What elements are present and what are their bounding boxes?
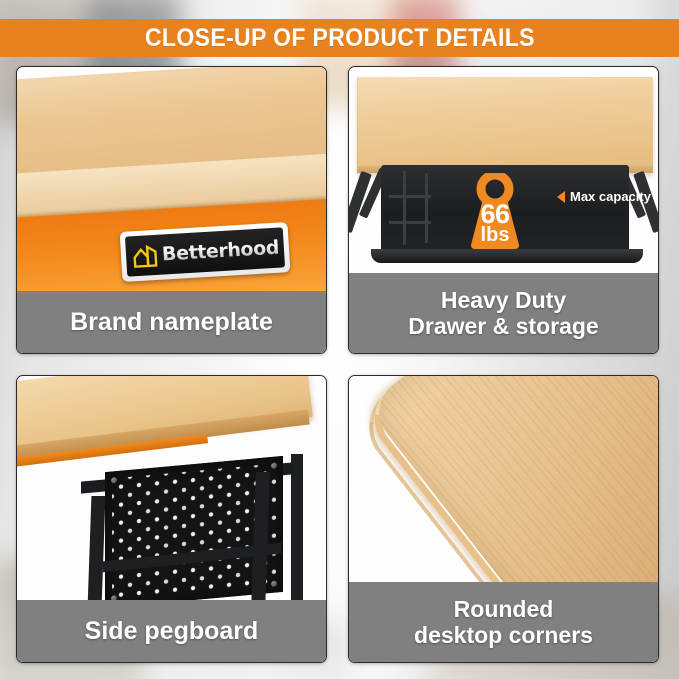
panel-4-caption-line-2: desktop corners xyxy=(414,622,593,648)
nameplate-inner: Betterhood xyxy=(125,227,285,276)
panel-rounded-corners: Rounded desktop corners xyxy=(348,375,659,663)
brand-nameplate-badge: Betterhood xyxy=(120,222,291,282)
panel-3-caption-line-1: Side pegboard xyxy=(85,617,259,646)
max-capacity-callout: Max capacity xyxy=(557,189,651,204)
drawer-divider xyxy=(425,173,428,243)
drawer-divider xyxy=(389,195,431,198)
capacity-unit: lbs xyxy=(459,225,531,245)
triangle-left-icon xyxy=(557,191,565,203)
panel-side-pegboard: Side pegboard xyxy=(16,375,327,663)
panel-2-caption-line-2: Drawer & storage xyxy=(408,313,598,339)
panel-3-caption: Side pegboard xyxy=(17,600,326,662)
brand-name-text: Betterhood xyxy=(161,237,279,266)
panel-1-caption-line-1: Brand nameplate xyxy=(70,308,273,337)
header-title: CLOSE-UP OF PRODUCT DETAILS xyxy=(145,24,535,53)
drawer-divider xyxy=(403,171,406,245)
panel-4-caption: Rounded desktop corners xyxy=(349,582,658,662)
panel-4-caption-line-1: Rounded xyxy=(454,596,554,622)
panel-1-caption: Brand nameplate xyxy=(17,291,326,353)
pegboard-screw xyxy=(271,580,277,587)
header-banner: CLOSE-UP OF PRODUCT DETAILS xyxy=(0,19,679,57)
drawer-divider xyxy=(389,221,431,224)
panel-brand-nameplate: Betterhood Brand nameplate xyxy=(16,66,327,354)
pegboard-screw xyxy=(271,462,277,469)
feature-panel-grid: Betterhood Brand nameplate xyxy=(16,66,663,663)
panel-2-caption-line-1: Heavy Duty xyxy=(441,287,566,313)
house-building-icon xyxy=(132,243,159,268)
weight-kettlebell-icon: 66 lbs xyxy=(459,173,531,251)
max-capacity-text: Max capacity xyxy=(570,189,651,204)
panel-heavy-duty-drawer: 66 lbs Max capacity Heavy Duty Drawer & … xyxy=(348,66,659,354)
max-capacity-line-1: Max xyxy=(570,189,595,204)
max-capacity-line-2: capacity xyxy=(599,189,651,204)
drawer-front-lip xyxy=(371,249,643,263)
wood-benchtop xyxy=(357,77,653,173)
panel-2-caption: Heavy Duty Drawer & storage xyxy=(349,273,658,353)
